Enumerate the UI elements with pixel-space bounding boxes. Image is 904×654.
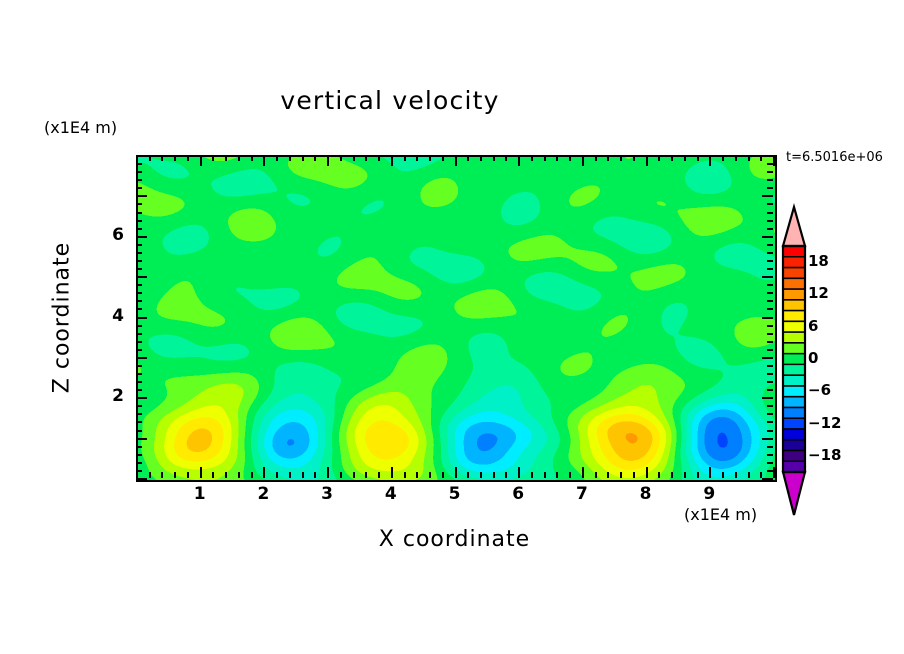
y-tick bbox=[136, 413, 142, 415]
x-tick-top bbox=[735, 155, 737, 161]
x-tick-top bbox=[569, 155, 571, 161]
x-tick-top bbox=[531, 155, 533, 161]
y-tick-right bbox=[767, 179, 773, 181]
x-tick bbox=[276, 472, 278, 478]
y-tick-right bbox=[767, 203, 773, 205]
x-tick-label-9: 9 bbox=[689, 484, 729, 504]
colorbar-band bbox=[783, 289, 805, 300]
y-tick-right bbox=[762, 236, 773, 238]
x-tick bbox=[404, 472, 406, 478]
colorbar-under-arrow bbox=[783, 472, 805, 515]
x-tick-top bbox=[607, 155, 609, 161]
x-tick-top bbox=[200, 155, 202, 166]
y-tick-right bbox=[767, 333, 773, 335]
x-tick bbox=[225, 472, 227, 478]
colorbar-band bbox=[783, 440, 805, 451]
x-tick bbox=[773, 467, 775, 478]
x-tick bbox=[136, 467, 138, 478]
x-tick-top bbox=[455, 155, 457, 166]
x-tick bbox=[200, 467, 202, 478]
x-tick bbox=[709, 467, 711, 478]
y-tick-right bbox=[762, 155, 773, 157]
x-tick-top bbox=[429, 155, 431, 161]
x-tick bbox=[455, 467, 457, 478]
colorbar: 181260−6−12−18 bbox=[778, 200, 904, 520]
y-tick bbox=[136, 462, 142, 464]
y-tick-right bbox=[762, 276, 773, 278]
x-tick bbox=[416, 472, 418, 478]
y-tick bbox=[136, 187, 142, 189]
x-tick bbox=[212, 472, 214, 478]
x-tick bbox=[633, 472, 635, 478]
x-tick-top bbox=[263, 155, 265, 166]
colorbar-band bbox=[783, 300, 805, 311]
y-tick bbox=[136, 260, 142, 262]
y-tick-right bbox=[767, 268, 773, 270]
y-tick-right bbox=[767, 405, 773, 407]
y-tick bbox=[136, 292, 142, 294]
y-tick-right bbox=[767, 292, 773, 294]
x-tick-top bbox=[340, 155, 342, 161]
x-tick bbox=[353, 472, 355, 478]
colorbar-label-0: 0 bbox=[808, 349, 818, 367]
y-tick-right bbox=[767, 163, 773, 165]
y-tick-right bbox=[767, 389, 773, 391]
y-tick-right bbox=[767, 212, 773, 214]
y-tick bbox=[136, 325, 142, 327]
y-tick-right bbox=[767, 244, 773, 246]
x-tick bbox=[302, 472, 304, 478]
x-tick-label-6: 6 bbox=[498, 484, 538, 504]
x-tick bbox=[556, 472, 558, 478]
x-tick-top bbox=[302, 155, 304, 161]
y-tick bbox=[136, 300, 142, 302]
y-tick bbox=[136, 220, 142, 222]
figure-root: vertical velocity (x1E4 m) t=6.5016e+06 … bbox=[0, 0, 904, 654]
colorbar-swatches bbox=[778, 200, 904, 520]
y-tick-right bbox=[767, 421, 773, 423]
x-tick bbox=[251, 472, 253, 478]
colorbar-band bbox=[783, 268, 805, 279]
y-tick bbox=[136, 276, 147, 278]
colorbar-band bbox=[783, 343, 805, 354]
x-tick-top bbox=[212, 155, 214, 161]
colorbar-band bbox=[783, 461, 805, 472]
x-tick bbox=[442, 472, 444, 478]
x-tick-top bbox=[658, 155, 660, 161]
y-tick bbox=[136, 470, 142, 472]
x-tick-top bbox=[391, 155, 393, 166]
y-tick bbox=[136, 308, 142, 310]
x-tick-top bbox=[633, 155, 635, 161]
x-tick-top bbox=[697, 155, 699, 161]
y-tick bbox=[136, 284, 142, 286]
colorbar-label--18: −18 bbox=[808, 446, 841, 464]
x-tick bbox=[582, 467, 584, 478]
y-tick bbox=[136, 454, 142, 456]
y-tick bbox=[136, 244, 142, 246]
y-tick-right bbox=[767, 381, 773, 383]
y-tick-right bbox=[762, 438, 773, 440]
y-tick-right bbox=[767, 260, 773, 262]
y-tick bbox=[136, 333, 142, 335]
y-tick-right bbox=[767, 365, 773, 367]
y-tick bbox=[136, 430, 142, 432]
x-axis-title: X coordinate bbox=[136, 527, 773, 552]
x-tick bbox=[544, 472, 546, 478]
x-tick-top bbox=[251, 155, 253, 161]
y-tick-right bbox=[767, 325, 773, 327]
y-tick bbox=[136, 397, 147, 399]
colorbar-band bbox=[783, 450, 805, 461]
y-tick bbox=[136, 268, 142, 270]
x-tick bbox=[263, 467, 265, 478]
y-tick-right bbox=[767, 341, 773, 343]
colorbar-band bbox=[783, 257, 805, 268]
x-tick-top bbox=[646, 155, 648, 166]
x-tick bbox=[671, 472, 673, 478]
colorbar-label-6: 6 bbox=[808, 317, 818, 335]
y-tick-label-6: 6 bbox=[84, 225, 124, 245]
y-tick bbox=[136, 373, 142, 375]
y-tick-right bbox=[767, 462, 773, 464]
x-tick-label-2: 2 bbox=[243, 484, 283, 504]
y-tick bbox=[136, 381, 142, 383]
x-tick-label-8: 8 bbox=[626, 484, 666, 504]
y-tick bbox=[136, 171, 142, 173]
x-tick-top bbox=[582, 155, 584, 166]
y-tick bbox=[136, 155, 147, 157]
colorbar-band bbox=[783, 311, 805, 322]
time-annotation: t=6.5016e+06 bbox=[786, 150, 883, 165]
y-tick-label-4: 4 bbox=[84, 306, 124, 326]
x-tick bbox=[289, 472, 291, 478]
x-tick bbox=[493, 472, 495, 478]
y-tick-right bbox=[767, 220, 773, 222]
y-tick bbox=[136, 438, 147, 440]
x-tick-top bbox=[722, 155, 724, 161]
colorbar-band bbox=[783, 397, 805, 408]
y-tick-right bbox=[762, 195, 773, 197]
colorbar-band bbox=[783, 354, 805, 365]
colorbar-label-18: 18 bbox=[808, 252, 829, 270]
y-tick-right bbox=[767, 349, 773, 351]
y-tick-right bbox=[767, 252, 773, 254]
y-tick-right bbox=[767, 284, 773, 286]
y-tick bbox=[136, 228, 142, 230]
x-tick-top bbox=[365, 155, 367, 161]
x-tick bbox=[314, 472, 316, 478]
x-tick-top bbox=[773, 155, 775, 166]
x-tick-top bbox=[404, 155, 406, 161]
y-tick bbox=[136, 236, 147, 238]
x-tick bbox=[658, 472, 660, 478]
x-tick bbox=[174, 472, 176, 478]
x-tick-top bbox=[684, 155, 686, 161]
x-tick bbox=[684, 472, 686, 478]
x-tick-top bbox=[378, 155, 380, 161]
x-tick bbox=[378, 472, 380, 478]
y-tick bbox=[136, 212, 142, 214]
x-tick bbox=[697, 472, 699, 478]
x-tick bbox=[531, 472, 533, 478]
x-tick bbox=[327, 467, 329, 478]
y-tick-right bbox=[762, 357, 773, 359]
x-tick-top bbox=[467, 155, 469, 161]
x-tick bbox=[391, 467, 393, 478]
y-tick-right bbox=[767, 430, 773, 432]
x-tick-label-4: 4 bbox=[371, 484, 411, 504]
y-tick-right bbox=[767, 228, 773, 230]
y-tick bbox=[136, 365, 142, 367]
x-tick-top bbox=[314, 155, 316, 161]
x-tick-top bbox=[187, 155, 189, 161]
colorbar-band bbox=[783, 278, 805, 289]
y-axis-unit-label: (x1E4 m) bbox=[44, 118, 117, 137]
colorbar-band bbox=[783, 386, 805, 397]
x-tick-label-3: 3 bbox=[307, 484, 347, 504]
x-tick-top bbox=[493, 155, 495, 161]
x-tick bbox=[620, 472, 622, 478]
x-tick-top bbox=[238, 155, 240, 161]
y-tick bbox=[136, 349, 142, 351]
y-tick bbox=[136, 317, 147, 319]
x-tick bbox=[722, 472, 724, 478]
y-tick-right bbox=[767, 171, 773, 173]
y-tick-label-2: 2 bbox=[84, 386, 124, 406]
x-tick bbox=[238, 472, 240, 478]
x-tick-top bbox=[225, 155, 227, 161]
x-tick-top bbox=[480, 155, 482, 161]
colorbar-band bbox=[783, 418, 805, 429]
x-tick-top bbox=[276, 155, 278, 161]
x-tick bbox=[187, 472, 189, 478]
x-tick-top bbox=[289, 155, 291, 161]
x-tick-top bbox=[442, 155, 444, 161]
y-tick-right bbox=[767, 300, 773, 302]
y-tick bbox=[136, 195, 147, 197]
y-tick-right bbox=[767, 470, 773, 472]
y-tick-right bbox=[762, 397, 773, 399]
y-tick-right bbox=[767, 308, 773, 310]
y-tick bbox=[136, 203, 142, 205]
x-tick bbox=[518, 467, 520, 478]
x-tick bbox=[340, 472, 342, 478]
y-tick-right bbox=[767, 373, 773, 375]
x-tick-label-5: 5 bbox=[435, 484, 475, 504]
x-tick bbox=[149, 472, 151, 478]
x-tick-top bbox=[161, 155, 163, 161]
colorbar-label--12: −12 bbox=[808, 414, 841, 432]
x-tick-label-1: 1 bbox=[180, 484, 220, 504]
x-tick bbox=[480, 472, 482, 478]
y-axis-title: Z coordinate bbox=[50, 218, 75, 418]
x-tick bbox=[467, 472, 469, 478]
x-tick-top bbox=[149, 155, 151, 161]
y-tick bbox=[136, 341, 142, 343]
x-tick-top bbox=[416, 155, 418, 161]
x-tick bbox=[161, 472, 163, 478]
y-tick bbox=[136, 421, 142, 423]
colorbar-band bbox=[783, 246, 805, 257]
x-tick bbox=[735, 472, 737, 478]
x-tick-top bbox=[174, 155, 176, 161]
y-tick bbox=[136, 405, 142, 407]
y-tick bbox=[136, 163, 142, 165]
x-tick-top bbox=[671, 155, 673, 161]
colorbar-band bbox=[783, 332, 805, 343]
chart-title: vertical velocity bbox=[0, 86, 780, 115]
y-tick-right bbox=[762, 478, 773, 480]
colorbar-band bbox=[783, 364, 805, 375]
colorbar-over-arrow bbox=[783, 207, 805, 246]
colorbar-label--6: −6 bbox=[808, 381, 831, 399]
y-tick bbox=[136, 252, 142, 254]
y-tick-right bbox=[767, 454, 773, 456]
x-tick-top bbox=[353, 155, 355, 161]
y-tick-right bbox=[767, 413, 773, 415]
x-tick bbox=[429, 472, 431, 478]
colorbar-band bbox=[783, 321, 805, 332]
x-tick-top bbox=[544, 155, 546, 161]
y-tick-right bbox=[767, 446, 773, 448]
y-tick-right bbox=[767, 187, 773, 189]
x-tick-top bbox=[518, 155, 520, 166]
x-tick bbox=[646, 467, 648, 478]
y-tick bbox=[136, 357, 147, 359]
x-tick-label-7: 7 bbox=[562, 484, 602, 504]
colorbar-band bbox=[783, 407, 805, 418]
y-tick bbox=[136, 478, 147, 480]
x-tick-top bbox=[505, 155, 507, 161]
contour-field bbox=[138, 157, 775, 480]
x-tick-top bbox=[327, 155, 329, 166]
x-tick bbox=[595, 472, 597, 478]
contour-plot-area bbox=[136, 155, 777, 482]
x-tick bbox=[607, 472, 609, 478]
x-tick-top bbox=[709, 155, 711, 166]
x-axis-unit-label: (x1E4 m) bbox=[684, 505, 757, 524]
x-tick bbox=[505, 472, 507, 478]
y-tick bbox=[136, 179, 142, 181]
y-tick bbox=[136, 446, 142, 448]
colorbar-band bbox=[783, 429, 805, 440]
x-tick-top bbox=[556, 155, 558, 161]
x-tick bbox=[569, 472, 571, 478]
colorbar-band bbox=[783, 375, 805, 386]
x-tick-top bbox=[595, 155, 597, 161]
y-tick bbox=[136, 389, 142, 391]
x-tick-top bbox=[620, 155, 622, 161]
x-tick bbox=[748, 472, 750, 478]
y-tick-right bbox=[762, 317, 773, 319]
colorbar-label-12: 12 bbox=[808, 284, 829, 302]
x-tick-top bbox=[748, 155, 750, 161]
x-tick bbox=[365, 472, 367, 478]
